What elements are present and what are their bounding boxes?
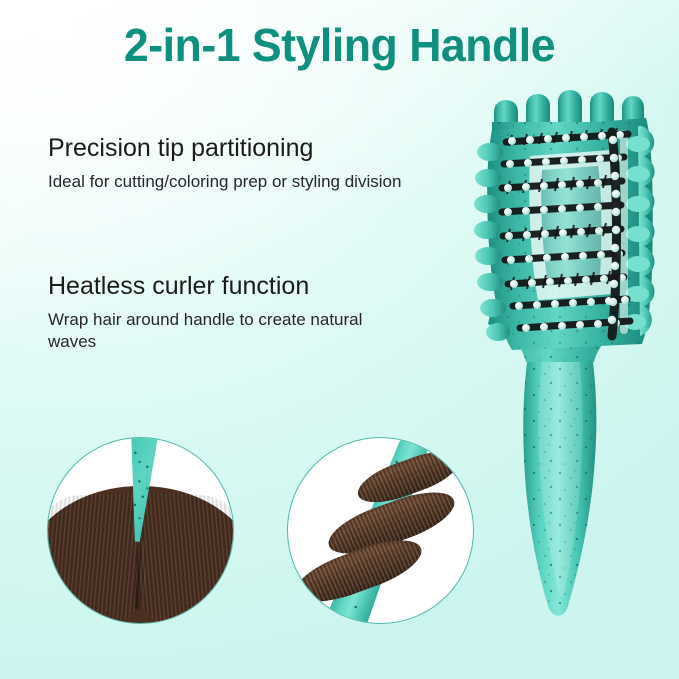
feature-block-heatless-curler: Heatless curler function Wrap hair aroun… [48,272,408,352]
brush-handle [523,340,596,616]
feature-heading: Heatless curler function [48,272,408,301]
feature-body: Wrap hair around handle to create natura… [48,309,408,353]
hair-parting-photo [47,437,234,624]
feature-block-precision-tip: Precision tip partitioning Ideal for cut… [48,134,401,193]
infographic-canvas: 2-in-1 Styling Handle Precision tip part… [0,0,679,679]
product-image-vented-styling-brush [452,78,667,623]
brush-head [474,90,655,350]
feature-heading: Precision tip partitioning [48,134,401,163]
hair-wrapped-handle-photo [287,437,474,624]
feature-body: Ideal for cutting/coloring prep or styli… [48,171,401,193]
page-title: 2-in-1 Styling Handle [10,18,669,72]
